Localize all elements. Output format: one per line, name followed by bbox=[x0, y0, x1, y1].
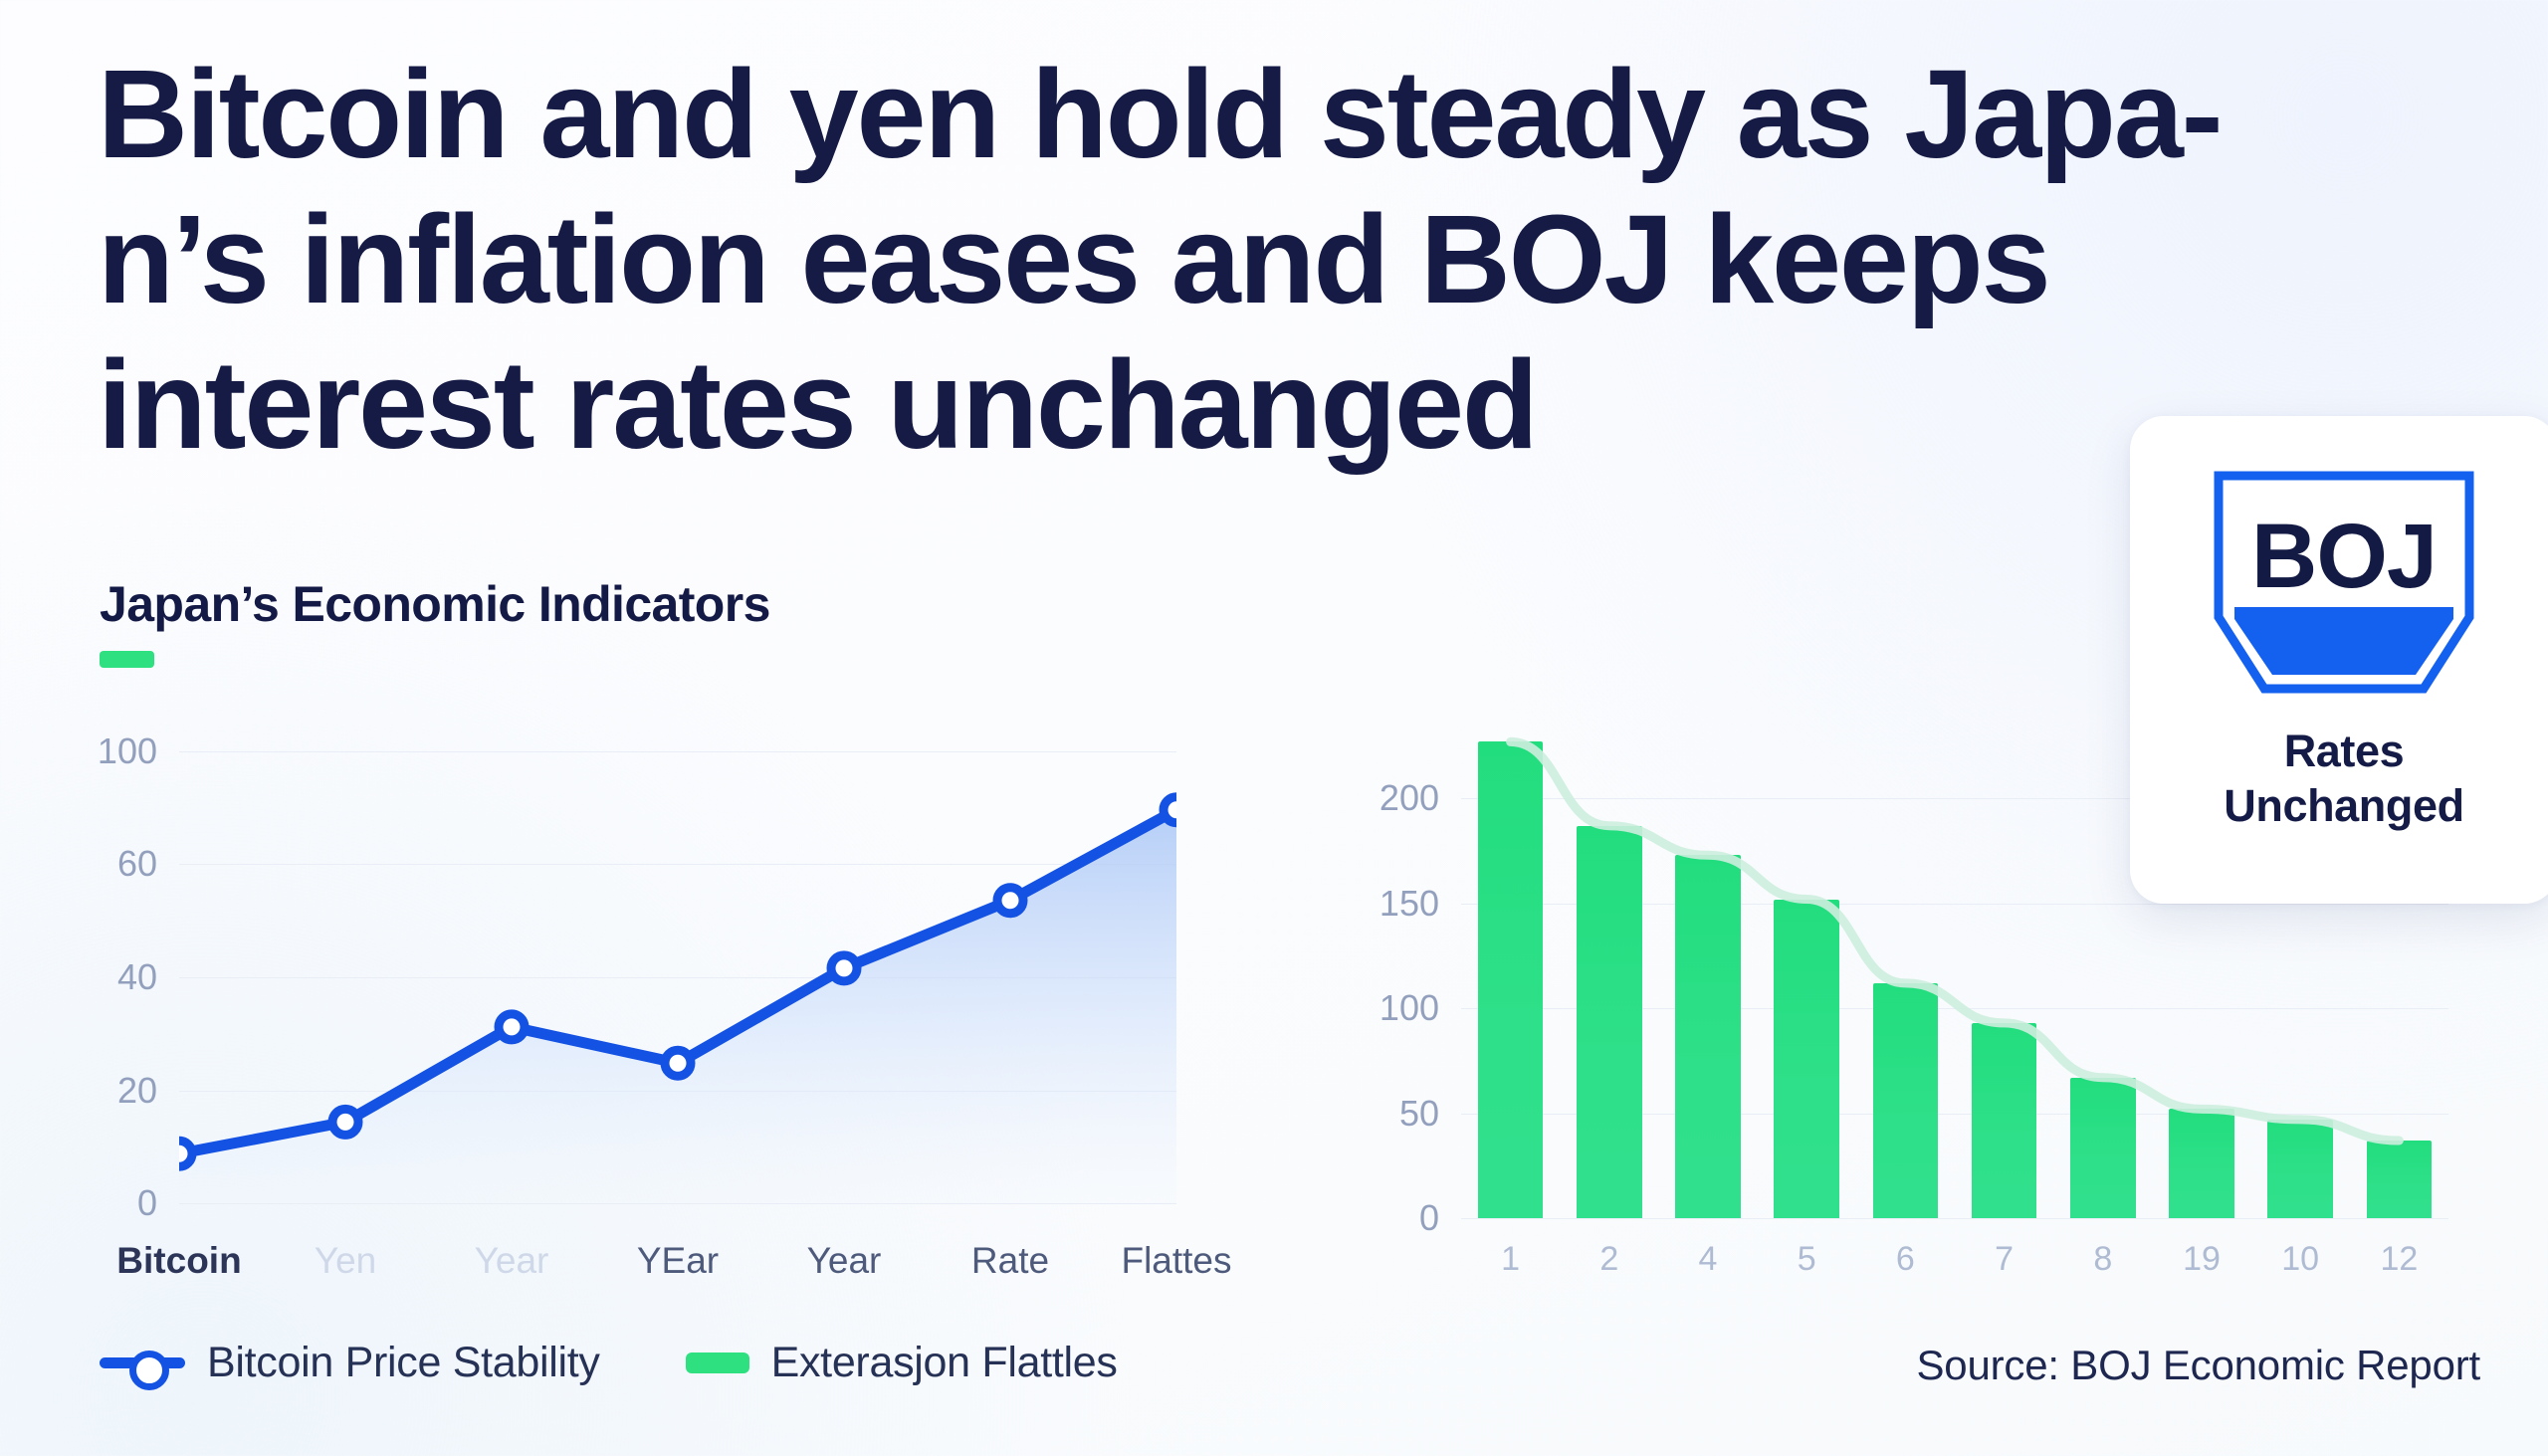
headline-line-2: n’s inflation eases and BOJ keeps bbox=[98, 187, 2446, 332]
chart-legend: Bitcoin Price Stability Exterasjon Flatt… bbox=[100, 1339, 1118, 1387]
bar[interactable] bbox=[1577, 826, 1641, 1218]
source-attribution: Source: BOJ Economic Report bbox=[1916, 1342, 2480, 1389]
bar[interactable] bbox=[2267, 1120, 2332, 1218]
y-axis-tick-label: 100 bbox=[1380, 987, 1439, 1029]
x-axis-tick-label: 4 bbox=[1699, 1240, 1718, 1279]
legend-label: Bitcoin Price Stability bbox=[207, 1339, 600, 1387]
y-axis-tick-label: 40 bbox=[117, 956, 157, 998]
y-axis-tick-label: 20 bbox=[117, 1070, 157, 1112]
x-axis-tick-label: YEar bbox=[637, 1240, 719, 1282]
y-axis-tick-label: 50 bbox=[1399, 1093, 1439, 1135]
x-axis-tick-label: 2 bbox=[1599, 1240, 1618, 1279]
infographic-canvas: Bitcoin and yen hold steady as Japa- n’s… bbox=[0, 0, 2548, 1456]
x-axis-tick-label: 6 bbox=[1896, 1240, 1915, 1279]
bar[interactable] bbox=[2070, 1078, 2135, 1218]
y-axis-tick-label: 150 bbox=[1380, 883, 1439, 925]
x-axis-tick-label: 1 bbox=[1501, 1240, 1520, 1279]
x-axis-tick-label: 8 bbox=[2093, 1240, 2112, 1279]
bar[interactable] bbox=[1873, 983, 1938, 1218]
x-axis-tick-label: Bitcoin bbox=[116, 1240, 241, 1282]
boj-shield-logo-icon: BOJ bbox=[2211, 468, 2477, 697]
svg-text:BOJ: BOJ bbox=[2251, 506, 2437, 607]
x-axis-tick-label: Year bbox=[475, 1240, 549, 1282]
line-chart-plot-area: 1006040200BitcoinYenYearYEarYearRateFlat… bbox=[179, 727, 1176, 1218]
x-axis-tick-label: 10 bbox=[2281, 1240, 2319, 1279]
x-axis-tick-label: Yen bbox=[315, 1240, 376, 1282]
x-axis-tick-label: 12 bbox=[2380, 1240, 2418, 1279]
color-swatch-icon bbox=[686, 1352, 749, 1373]
y-axis-tick-label: 200 bbox=[1380, 777, 1439, 819]
x-axis-tick-label: 7 bbox=[1995, 1240, 2014, 1279]
badge-caption-line-2: Unchanged bbox=[2224, 779, 2463, 834]
bar[interactable] bbox=[1675, 855, 1740, 1218]
bar[interactable] bbox=[2367, 1141, 2432, 1218]
x-axis-tick-label: 5 bbox=[1798, 1240, 1816, 1279]
legend-item-bitcoin-price-stability[interactable]: Bitcoin Price Stability bbox=[100, 1339, 600, 1387]
bar[interactable] bbox=[1774, 900, 1838, 1218]
x-axis-tick-label: Year bbox=[807, 1240, 882, 1282]
bar[interactable] bbox=[1972, 1023, 2036, 1218]
line-chart-panel: 1006040200BitcoinYenYearYEarYearRateFlat… bbox=[70, 697, 1224, 1254]
badge-caption-line-1: Rates bbox=[2224, 725, 2463, 779]
badge-caption: Rates Unchanged bbox=[2224, 725, 2463, 834]
line-marker-icon bbox=[100, 1357, 185, 1368]
y-axis-tick-label: 0 bbox=[137, 1182, 157, 1224]
x-axis-tick-label: Flattes bbox=[1121, 1240, 1231, 1282]
bar[interactable] bbox=[2169, 1109, 2233, 1218]
x-axis-tick-label: 19 bbox=[2183, 1240, 2221, 1279]
gridline bbox=[1461, 1218, 2448, 1219]
page-title: Bitcoin and yen hold steady as Japa- n’s… bbox=[98, 42, 2446, 478]
boj-rates-badge: BOJ Rates Unchanged bbox=[2130, 416, 2548, 904]
y-axis-tick-label: 100 bbox=[98, 730, 157, 772]
legend-label: Exterasjon Flattles bbox=[771, 1339, 1118, 1387]
legend-item-exterasjon-flattles[interactable]: Exterasjon Flattles bbox=[686, 1339, 1118, 1387]
accent-bar bbox=[100, 651, 154, 668]
line-series-bitcoin-price-stability bbox=[179, 727, 1176, 1218]
y-axis-tick-label: 60 bbox=[117, 843, 157, 885]
headline-line-1: Bitcoin and yen hold steady as Japa- bbox=[98, 42, 2446, 187]
bar[interactable] bbox=[1478, 741, 1543, 1218]
section-title: Japan’s Economic Indicators bbox=[100, 575, 770, 633]
y-axis-tick-label: 0 bbox=[1419, 1197, 1439, 1239]
x-axis-tick-label: Rate bbox=[971, 1240, 1049, 1282]
headline-line-3: interest rates unchanged bbox=[98, 332, 2446, 478]
